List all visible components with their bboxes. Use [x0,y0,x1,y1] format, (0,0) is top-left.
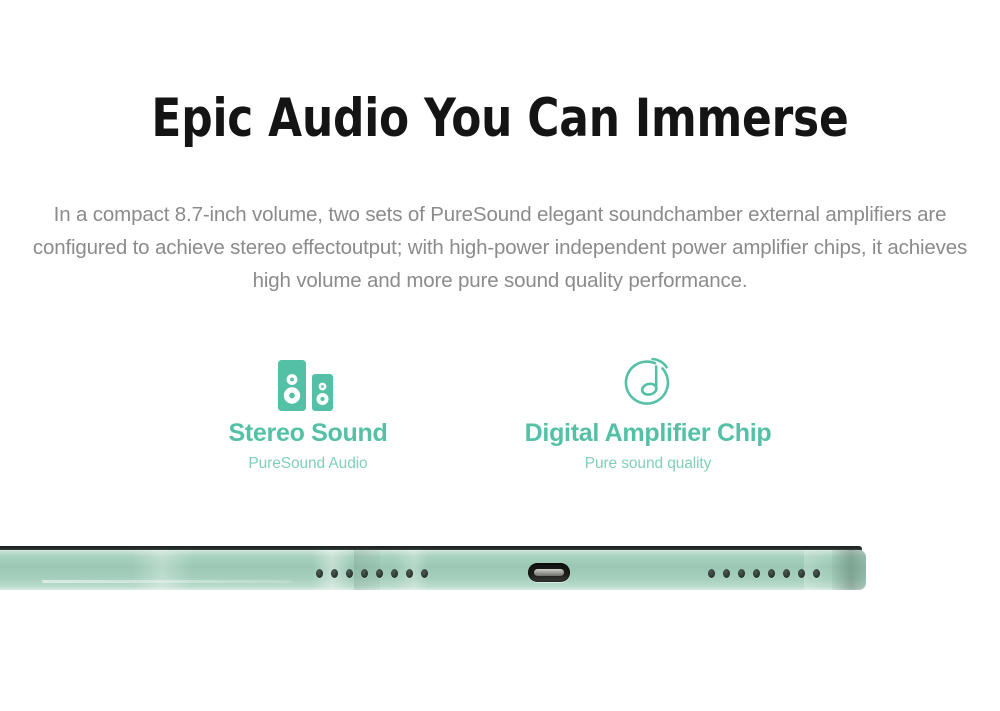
speaker-hole [813,569,820,578]
speaker-hole [768,569,775,578]
speaker-grille-left [316,569,428,578]
feature-item-stereo-sound: Stereo Sound PureSound Audio [208,352,408,474]
speaker-hole [331,569,338,578]
speaker-hole [783,569,790,578]
feature-subtitle: PureSound Audio [208,454,408,474]
speaker-hole [391,569,398,578]
device-chassis [0,550,866,590]
speaker-hole [723,569,730,578]
feature-item-digital-amplifier-chip: Digital Amplifier Chip Pure sound qualit… [498,352,798,474]
speaker-grille-right [708,569,820,578]
feature-title: Stereo Sound [208,418,408,448]
usb-c-tongue [534,569,564,576]
page-title: Epic Audio You Can Immerse [40,88,960,150]
speaker-hole [406,569,413,578]
chassis-highlight [132,550,192,590]
tablet-bottom-edge-photo [0,540,866,596]
feature-subtitle: Pure sound quality [498,454,798,474]
speaker-hole [376,569,383,578]
speaker-hole [346,569,353,578]
speaker-hole [708,569,715,578]
speaker-hole [753,569,760,578]
feature-title: Digital Amplifier Chip [498,418,798,448]
music-note-circle-icon [498,352,798,412]
speaker-hole [421,569,428,578]
speaker-hole [738,569,745,578]
usb-c-port [528,563,570,582]
chassis-end-shadow [832,550,866,590]
speaker-hole [361,569,368,578]
antenna-seam-line [42,580,292,583]
stereo-speakers-icon [208,352,408,412]
page-description: In a compact 8.7-inch volume, two sets o… [28,198,972,297]
feature-list: Stereo Sound PureSound Audio Digital Amp… [0,352,1000,492]
speaker-hole [798,569,805,578]
speaker-hole [316,569,323,578]
